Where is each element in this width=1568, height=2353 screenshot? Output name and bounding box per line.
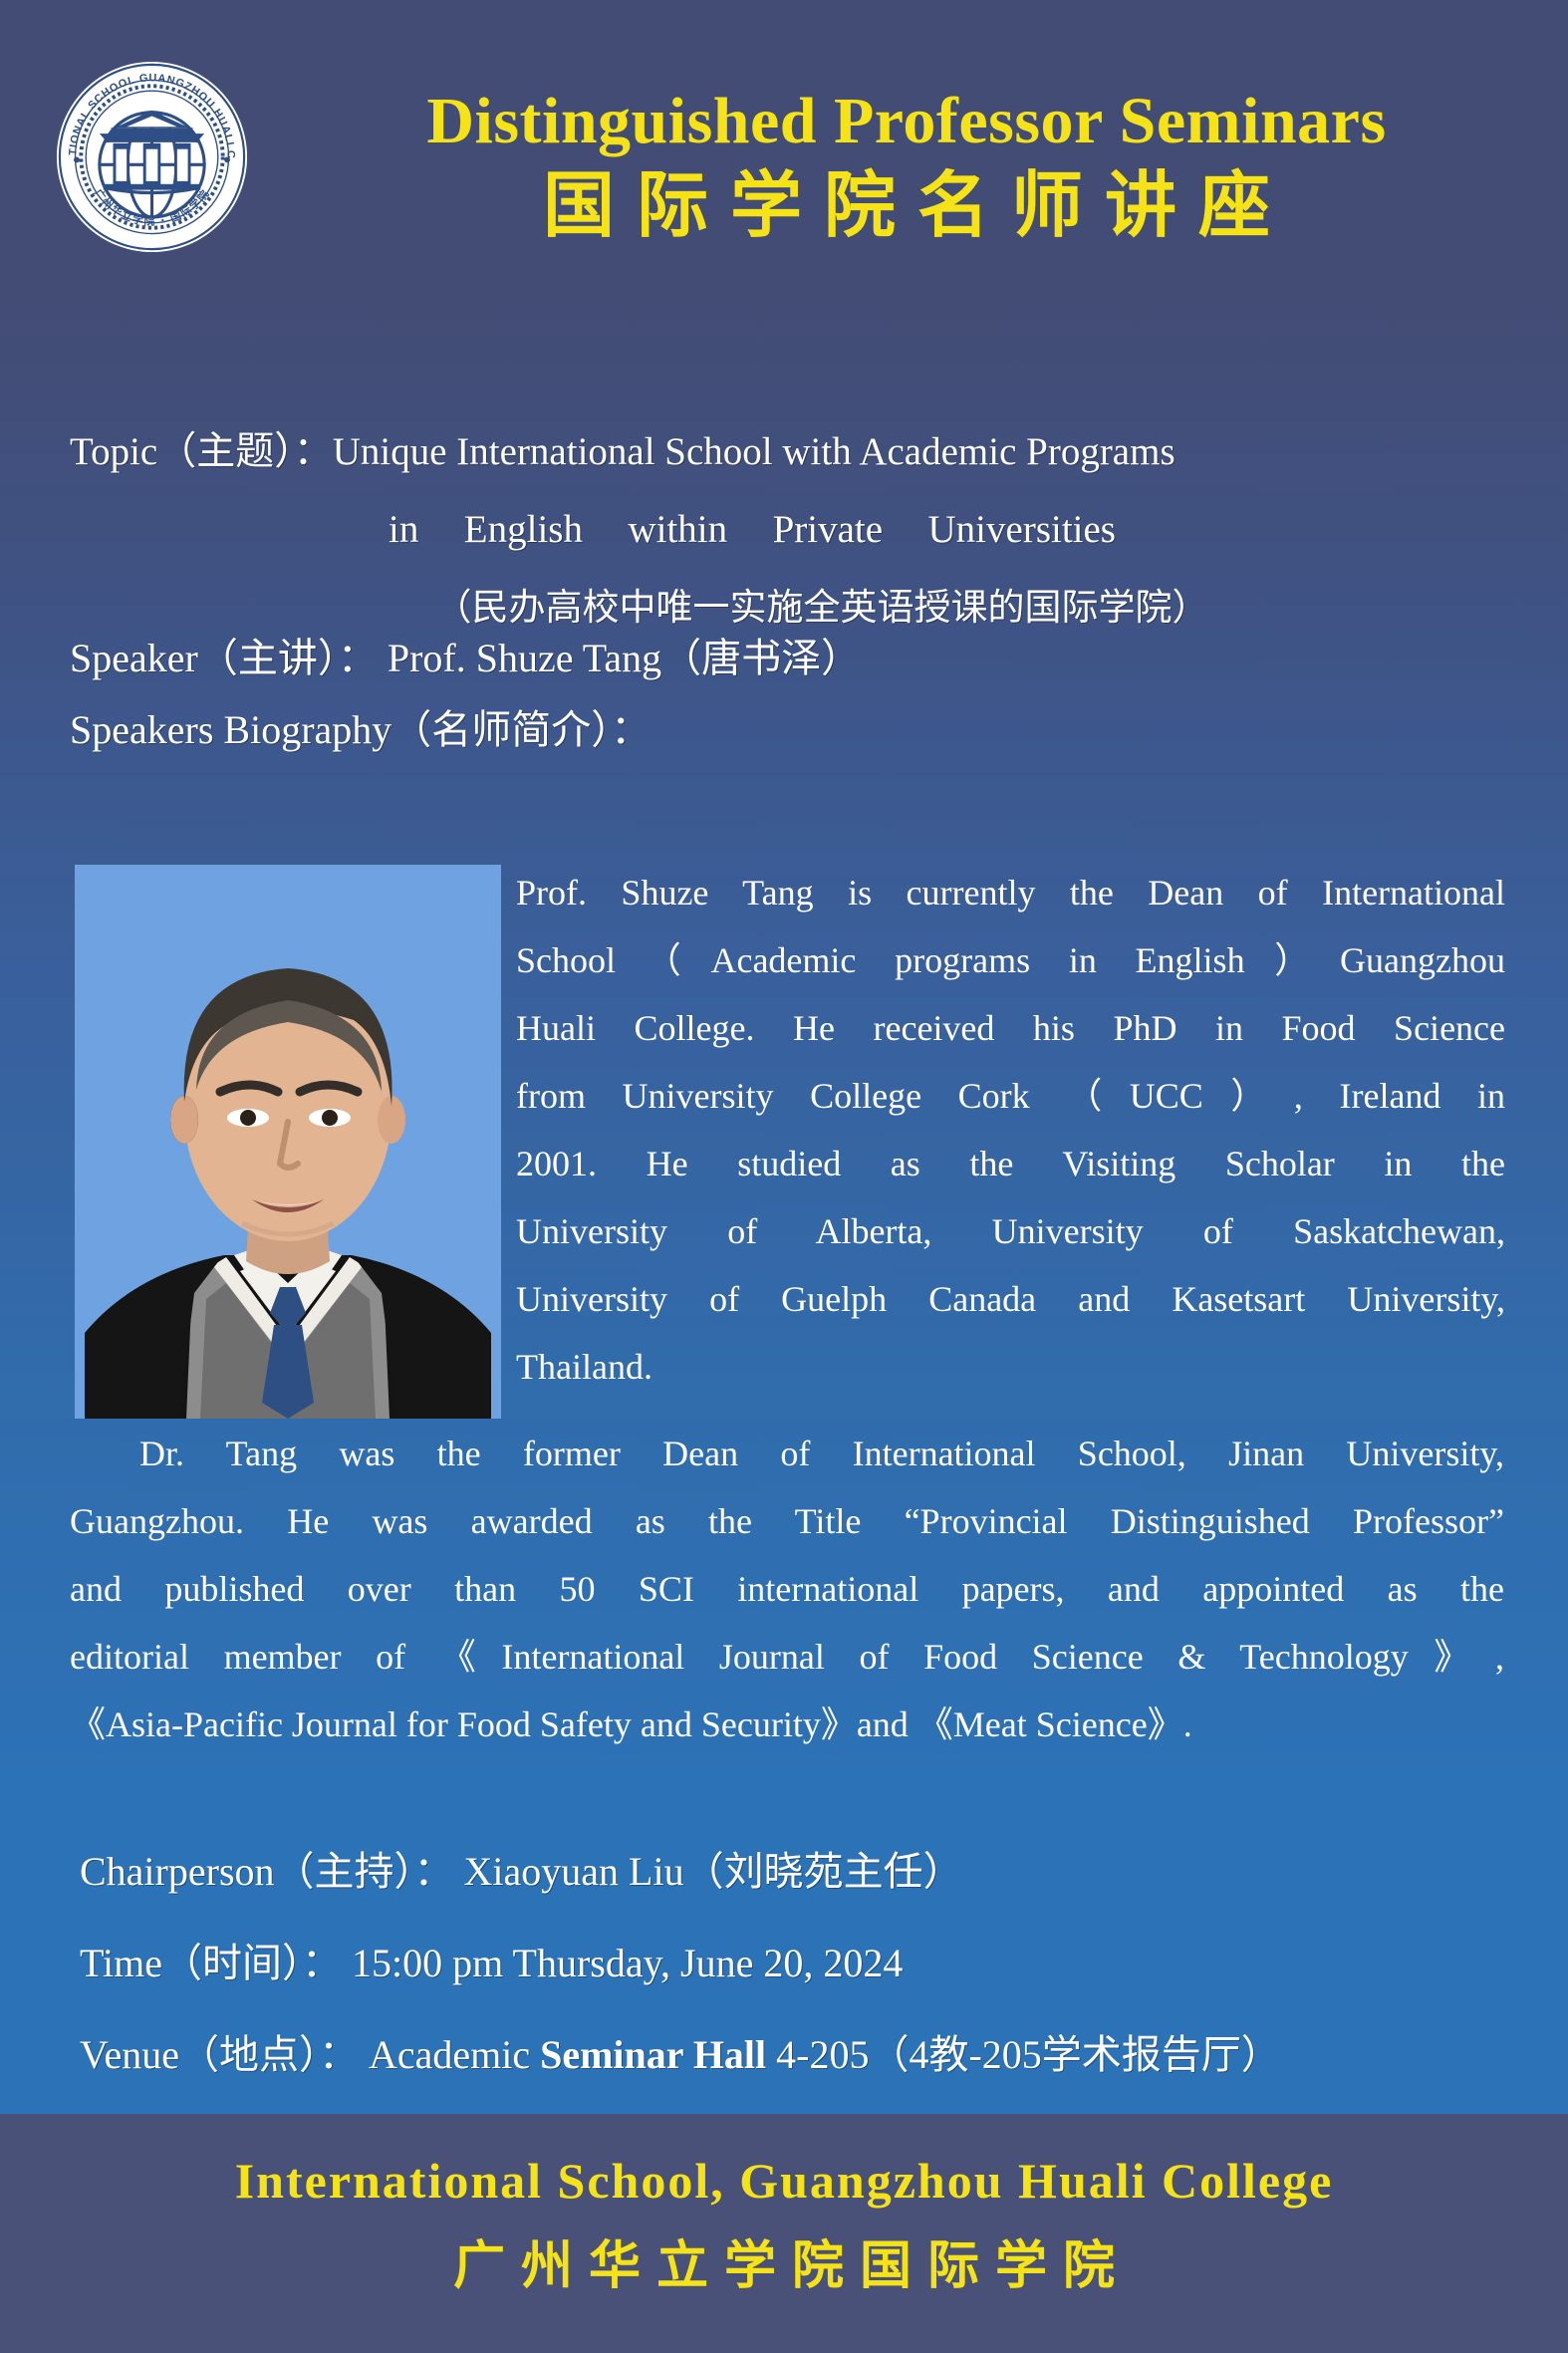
bio-p1-line: Huali College. He received his PhD in Fo… xyxy=(516,994,1505,1062)
chairperson-label: Chairperson（主持）： xyxy=(80,1849,454,1894)
biography-paragraph-2: Dr. Tang was the former Dean of Internat… xyxy=(70,1420,1504,1758)
time-row: Time（时间）： 15:00 pm Thursday, June 20, 20… xyxy=(80,1918,1514,2009)
huali-college-seal-logo: INTERNATIONAL SCHOOL GUANGZHOU HUALI COL… xyxy=(55,60,249,254)
topic-line-1: Topic（主题）：Unique International School wi… xyxy=(70,430,1176,473)
event-details: Chairperson（主持）： Xiaoyuan Liu（刘晓苑主任） Tim… xyxy=(80,1826,1514,2101)
poster-header: INTERNATIONAL SCHOOL GUANGZHOU HUALI COL… xyxy=(0,0,1568,329)
poster-title-block: Distinguished Professor Seminars 国际学院名师讲… xyxy=(329,88,1484,250)
bio-p1-line: School（Academic programs in English）Guan… xyxy=(516,926,1505,994)
bio-p1-line: Prof. Shuze Tang is currently the Dean o… xyxy=(516,859,1505,926)
footer-line-cn: 广州华立学院国际学院 xyxy=(0,2223,1568,2298)
footer-line-en: International School, Guangzhou Huali Co… xyxy=(0,2152,1568,2210)
venue-hall-name: Seminar Hall xyxy=(540,2032,766,2077)
poster-title-cn: 国际学院名师讲座 xyxy=(329,160,1484,250)
biography-heading: Speakers Biography（名师简介）： xyxy=(70,697,1504,755)
venue-row: Venue（地点）： Academic Seminar Hall 4-205（4… xyxy=(80,2009,1514,2101)
bio-p2-line: and published over than 50 SCI internati… xyxy=(70,1555,1504,1623)
time-value: 15:00 pm Thursday, June 20, 2024 xyxy=(342,1941,903,1985)
bio-p2-line: editorial member of 《International Journ… xyxy=(70,1623,1504,1691)
topic-line-2: in English within Private Universities xyxy=(389,491,1116,569)
time-label: Time（时间）： xyxy=(80,1941,342,1985)
venue-prefix: Academic xyxy=(359,2032,540,2077)
bio-p1-line: University of Alberta, University of Sas… xyxy=(516,1197,1505,1265)
poster-footer: International School, Guangzhou Huali Co… xyxy=(0,2114,1568,2353)
venue-label: Venue（地点）： xyxy=(80,2032,359,2077)
seminar-poster: INTERNATIONAL SCHOOL GUANGZHOU HUALI COL… xyxy=(0,0,1568,2353)
bio-p1-line: from University College Cork （UCC）, Irel… xyxy=(516,1062,1505,1130)
bio-p1-line: Thailand. xyxy=(516,1333,1505,1401)
chairperson-value: Xiaoyuan Liu（刘晓苑主任） xyxy=(454,1849,963,1894)
bio-p1-line: 2001. He studied as the Visiting Scholar… xyxy=(516,1130,1505,1197)
poster-title-en: Distinguished Professor Seminars xyxy=(329,88,1484,154)
speaker-line: Speaker（主讲）： Prof. Shuze Tang（唐书泽） xyxy=(70,626,1504,683)
speaker-portrait-photo xyxy=(75,865,501,1419)
topic-section: Topic（主题）：Unique International School wi… xyxy=(70,413,1504,647)
venue-suffix: 4-205（4教-205学术报告厅） xyxy=(766,2032,1281,2077)
bio-p2-line: 《Asia-Pacific Journal for Food Safety an… xyxy=(70,1691,1504,1758)
bio-p2-line: Guangzhou. He was awarded as the Title “… xyxy=(70,1487,1504,1555)
bio-p2-line: Dr. Tang was the former Dean of Internat… xyxy=(70,1420,1504,1487)
biography-paragraph-1: Prof. Shuze Tang is currently the Dean o… xyxy=(516,859,1505,1401)
bio-p1-line: University of Guelph Canada and Kasetsar… xyxy=(516,1265,1505,1333)
chairperson-row: Chairperson（主持）： Xiaoyuan Liu（刘晓苑主任） xyxy=(80,1826,1514,1918)
